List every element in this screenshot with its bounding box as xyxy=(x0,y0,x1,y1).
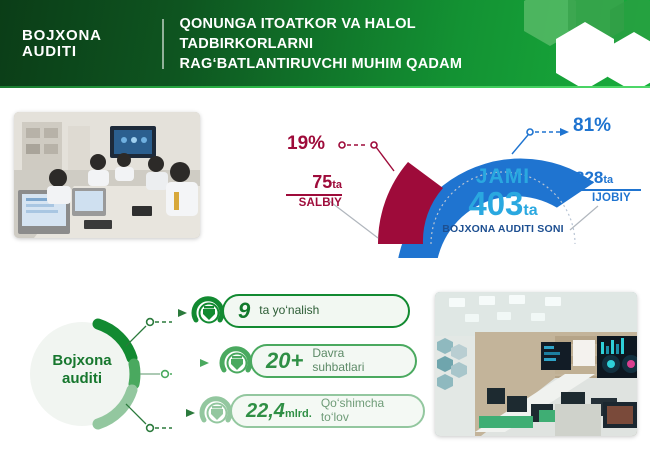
negative-name: SALBIY xyxy=(276,197,342,209)
header-brand: BOJXONA AUDITI xyxy=(0,28,158,61)
statistics-section: JAMI 403ta BOJXONA AUDITI SONI 19% 81% 7… xyxy=(0,90,650,258)
negative-value-block: 75ta SALBIY xyxy=(276,172,342,209)
header-title-line1: QONUNGA ITOATKOR VA HALOL TADBIRKORLARNI xyxy=(180,14,554,54)
positive-percent: 81% xyxy=(573,115,611,137)
office-photo xyxy=(14,112,200,238)
hub-label-line1: Bojxona xyxy=(22,352,142,370)
positive-value-block: 328ta IJOBIY xyxy=(575,168,650,204)
donut-chart: JAMI 403ta BOJXONA AUDITI SONI 19% 81% 7… xyxy=(268,98,650,258)
negative-value: 75ta xyxy=(276,172,342,193)
control-room-photo xyxy=(435,292,637,436)
hexagon-pattern-icon xyxy=(510,0,650,88)
header-underline xyxy=(0,86,650,88)
hexagon-decoration-group xyxy=(510,0,650,88)
metric-value-1: 9 xyxy=(224,300,250,322)
positive-name: IJOBIY xyxy=(575,192,650,204)
hub-label: Bojxona auditi xyxy=(22,352,142,389)
header-title-line2: RAG‘BATLANTIRUVCHI MUHIM QADAM xyxy=(180,54,554,74)
metric-label-1: ta yo‘nalish xyxy=(250,304,319,318)
negative-rule xyxy=(286,194,342,196)
metric-label-3: Qo‘shimcha to‘lov xyxy=(312,397,384,425)
page-header: BOJXONA AUDITI QONUNGA ITOATKOR VA HALOL… xyxy=(0,0,650,88)
header-title: QONUNGA ITOATKOR VA HALOL TADBIRKORLARNI… xyxy=(164,14,554,74)
metric-pill-directions[interactable]: 9 ta yo‘nalish xyxy=(222,294,410,328)
positive-rule xyxy=(575,189,641,191)
negative-percent: 19% xyxy=(287,133,325,155)
hub-label-line2: auditi xyxy=(22,370,142,388)
metric-label-2: Davra suhbatlari xyxy=(303,347,364,375)
metric-value-2: 20+ xyxy=(252,350,303,372)
metric-pill-roundtables[interactable]: 20+ Davra suhbatlari xyxy=(250,344,417,378)
hub-diagram: Bojxona auditi xyxy=(22,300,172,448)
metric-value-3: 22,4mlrd. xyxy=(232,401,312,421)
positive-value: 328ta xyxy=(575,168,650,188)
metric-pill-additional-payment[interactable]: 22,4mlrd. Qo‘shimcha to‘lov xyxy=(230,394,425,428)
